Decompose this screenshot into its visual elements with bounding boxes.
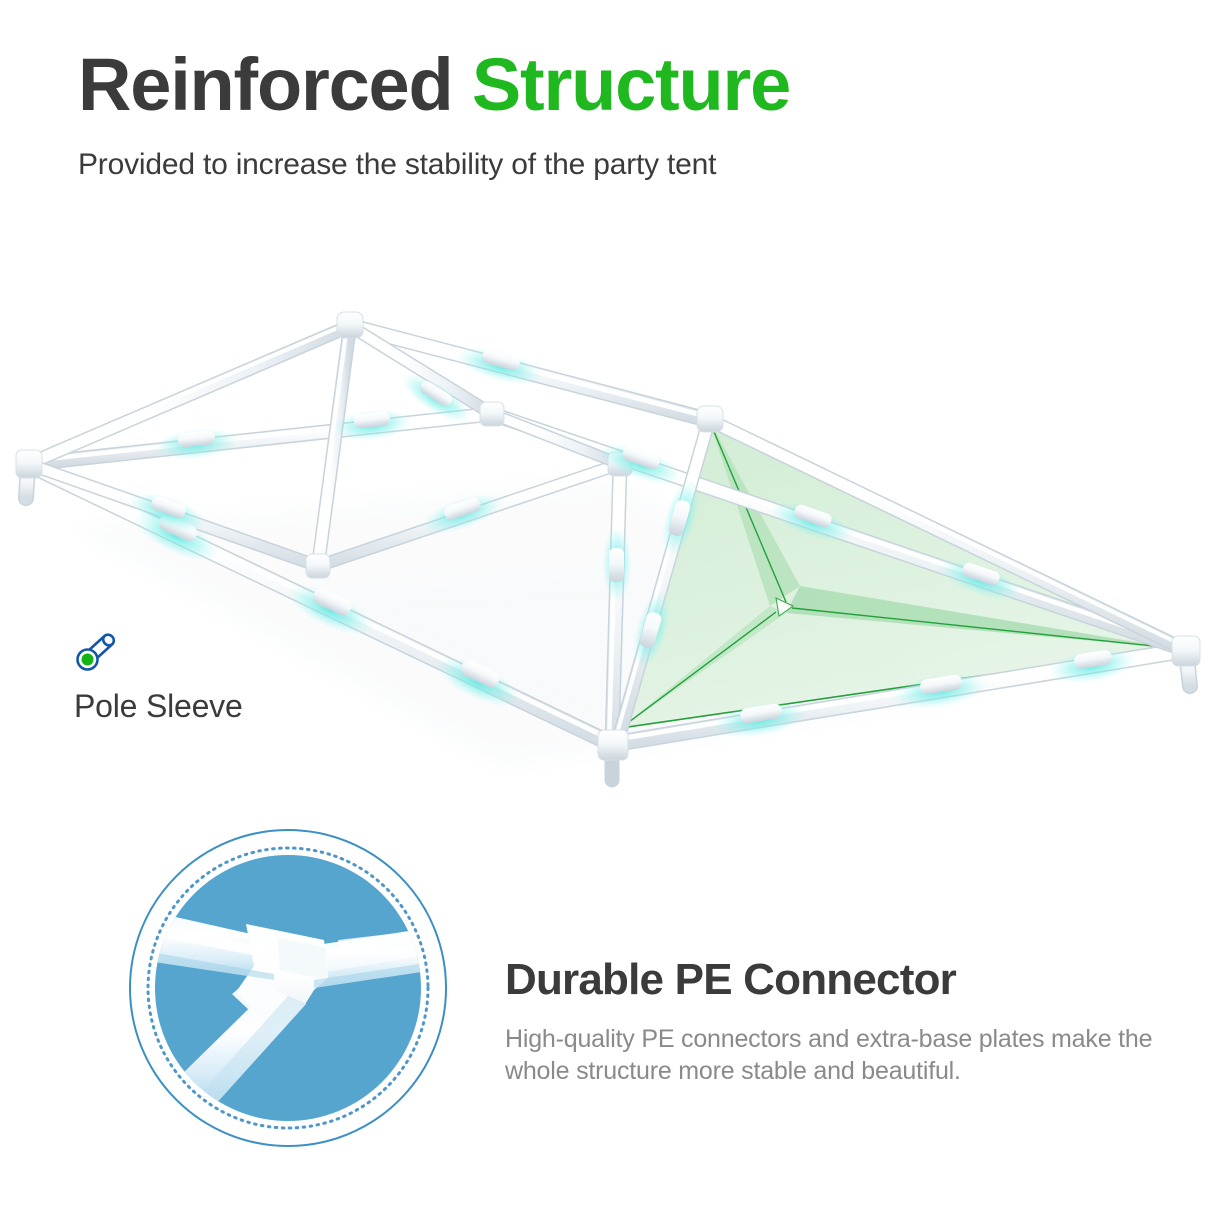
pole-sleeve-marker xyxy=(602,526,632,602)
page-title-dark: Reinforced xyxy=(78,43,453,126)
page-subtitle: Provided to increase the stability of th… xyxy=(78,122,1138,182)
page-title-accent: Structure xyxy=(472,43,790,126)
page-title: Reinforced Structure xyxy=(78,48,1138,122)
pole-sleeve-icon xyxy=(74,630,118,674)
pole-sleeve-label: Pole Sleeve xyxy=(74,674,374,725)
pole-sleeve-legend: Pole Sleeve xyxy=(74,630,374,725)
bottom-section-body: High-quality PE connectors and extra-bas… xyxy=(505,1005,1165,1087)
header: Reinforced Structure Provided to increas… xyxy=(78,48,1138,182)
tent-frame-svg xyxy=(0,268,1214,828)
pole-sleeve-marker xyxy=(153,425,240,464)
pe-connector-copy: Durable PE Connector High-quality PE con… xyxy=(505,955,1165,1087)
pole-sleeve-marker xyxy=(454,340,547,392)
pe-connector-photo xyxy=(128,828,448,1148)
bottom-section-title: Durable PE Connector xyxy=(505,955,1165,1005)
tent-frame-illustration xyxy=(0,268,1214,828)
infographic-page: Reinforced Structure Provided to increas… xyxy=(0,0,1214,1214)
pe-connector-photo-svg xyxy=(128,828,448,1148)
